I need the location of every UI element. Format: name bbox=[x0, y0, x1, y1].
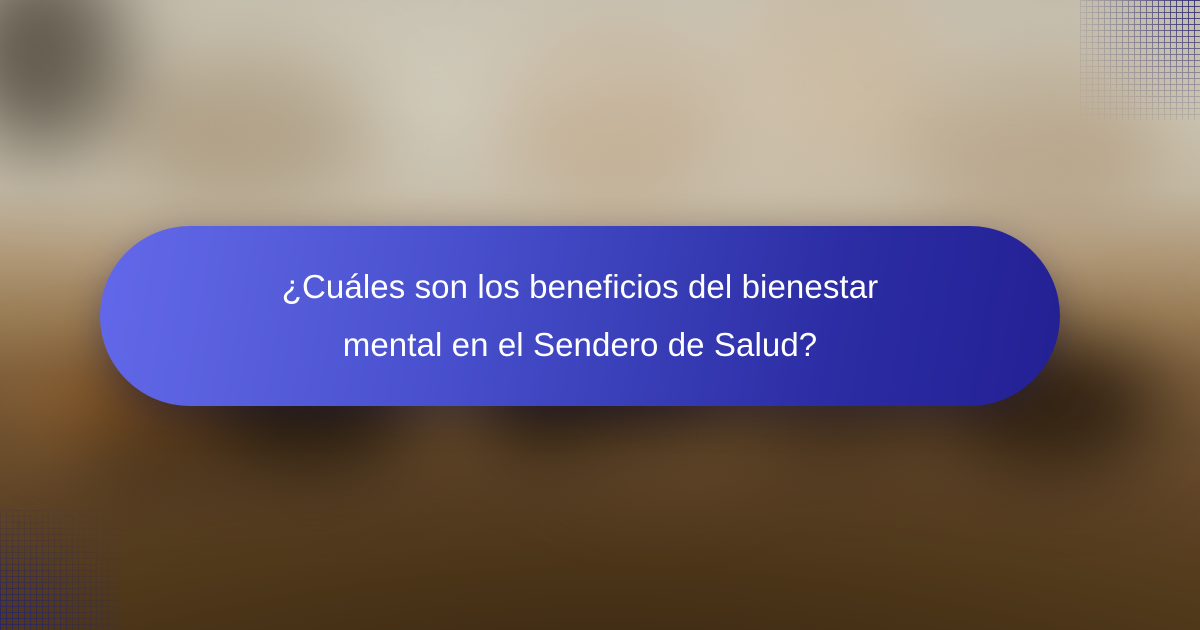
headline-text: ¿Cuáles son los beneficios del bienestar… bbox=[230, 258, 930, 374]
headline-pill: ¿Cuáles son los beneficios del bienestar… bbox=[100, 226, 1060, 406]
corner-dot-pattern-top-right bbox=[1080, 0, 1200, 120]
share-card-canvas: ¿Cuáles son los beneficios del bienestar… bbox=[0, 0, 1200, 630]
corner-dot-pattern-bottom-left bbox=[0, 510, 120, 630]
